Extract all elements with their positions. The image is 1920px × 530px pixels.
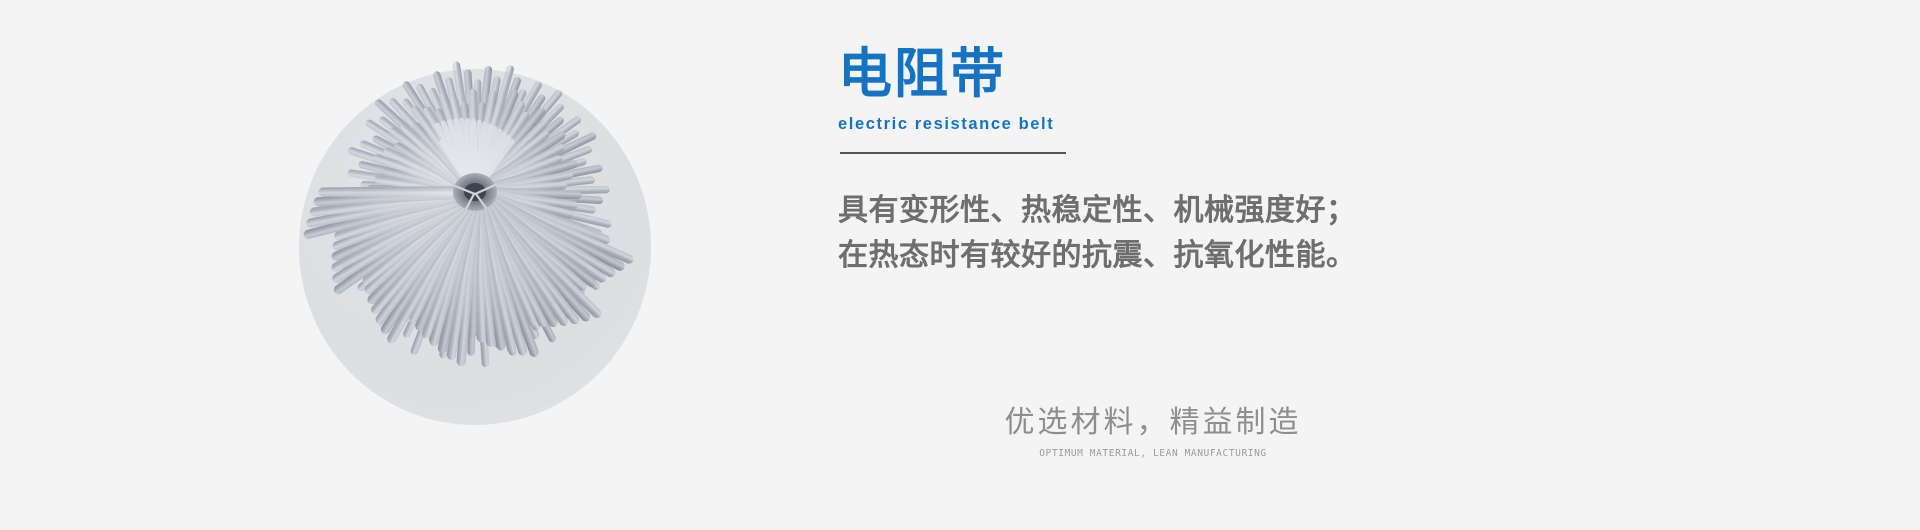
resistance-belt-illustration (270, 32, 680, 432)
page-subtitle: electric resistance belt (838, 102, 1438, 134)
page-title: 电阻带 (838, 47, 1438, 102)
slogan-english: OPTIMUM MATERIAL, LEAN MANUFACTURING (943, 442, 1363, 460)
description-line-2: 在热态时有较好的抗震、抗氧化性能。 (838, 233, 1538, 278)
product-image-stage (300, 52, 650, 402)
banner-content: 电阻带 electric resistance belt 具有变形性、热稳定性、… (838, 0, 1738, 530)
slogan-block: 优选材料，精益制造 OPTIMUM MATERIAL, LEAN MANUFAC… (943, 404, 1363, 460)
description-line-1: 具有变形性、热稳定性、机械强度好； (838, 188, 1538, 233)
slogan-chinese: 优选材料，精益制造 (943, 404, 1363, 442)
description-block: 具有变形性、热稳定性、机械强度好； 在热态时有较好的抗震、抗氧化性能。 (838, 188, 1538, 278)
product-image (300, 52, 650, 402)
product-banner: 电阻带 electric resistance belt 具有变形性、热稳定性、… (0, 0, 1920, 530)
title-divider (840, 152, 1066, 154)
title-block: 电阻带 electric resistance belt (838, 47, 1438, 134)
